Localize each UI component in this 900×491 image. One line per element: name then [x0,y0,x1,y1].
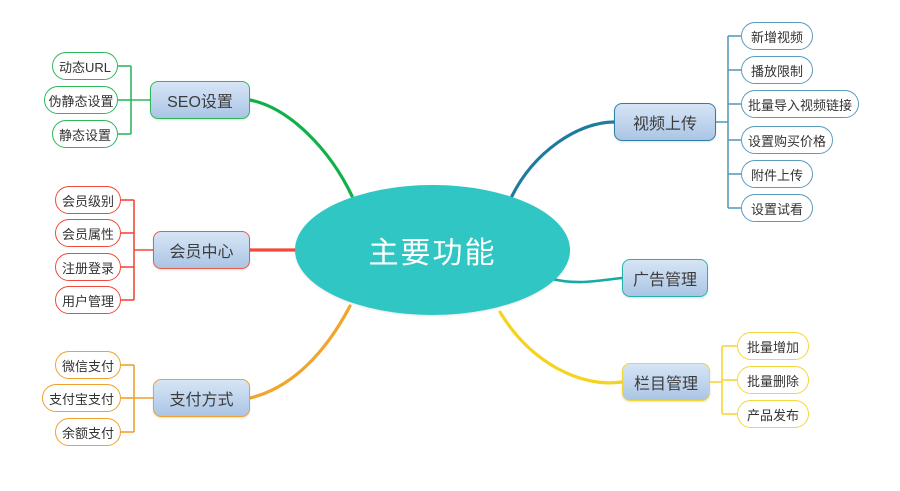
leaf-node-payment-2[interactable]: 余额支付 [55,418,121,446]
leaf-node-member-0[interactable]: 会员级别 [55,186,121,214]
link-root-payment [250,306,350,398]
leaf-node-member-3[interactable]: 用户管理 [55,286,121,314]
leaf-node-column-0[interactable]: 批量增加 [737,332,809,360]
leaf-node-member-1[interactable]: 会员属性 [55,219,121,247]
link-root-ads [548,278,622,282]
link-root-seo [250,100,352,196]
branch-node-member[interactable]: 会员中心 [153,231,250,269]
leaf-node-video-1[interactable]: 播放限制 [741,56,813,84]
leaf-node-member-2[interactable]: 注册登录 [55,253,121,281]
link-root-column [500,312,622,383]
leaf-node-video-0[interactable]: 新增视频 [741,22,813,50]
leaf-node-video-5[interactable]: 设置试看 [741,194,813,222]
branch-node-column[interactable]: 栏目管理 [622,363,710,401]
leaf-node-payment-1[interactable]: 支付宝支付 [42,384,121,412]
branch-node-seo[interactable]: SEO设置 [150,81,250,119]
link-root-video [512,122,614,196]
leaf-node-column-2[interactable]: 产品发布 [737,400,809,428]
leaf-node-video-2[interactable]: 批量导入视频链接 [741,90,859,118]
branch-node-ads[interactable]: 广告管理 [622,259,708,297]
leaf-node-column-1[interactable]: 批量删除 [737,366,809,394]
leaf-node-seo-0[interactable]: 动态URL [52,52,118,80]
branch-node-payment[interactable]: 支付方式 [153,379,250,417]
leaf-node-video-3[interactable]: 设置购买价格 [741,126,833,154]
root-node[interactable]: 主要功能 [295,185,570,315]
leaf-node-payment-0[interactable]: 微信支付 [55,351,121,379]
mindmap-canvas: 主要功能 SEO设置 动态URL 伪静态设置 静态设置 会员中心 会员级别 会员… [0,0,900,491]
branch-node-video[interactable]: 视频上传 [614,103,716,141]
leaf-node-seo-2[interactable]: 静态设置 [52,120,118,148]
leaf-node-video-4[interactable]: 附件上传 [741,160,813,188]
leaf-node-seo-1[interactable]: 伪静态设置 [44,86,118,114]
